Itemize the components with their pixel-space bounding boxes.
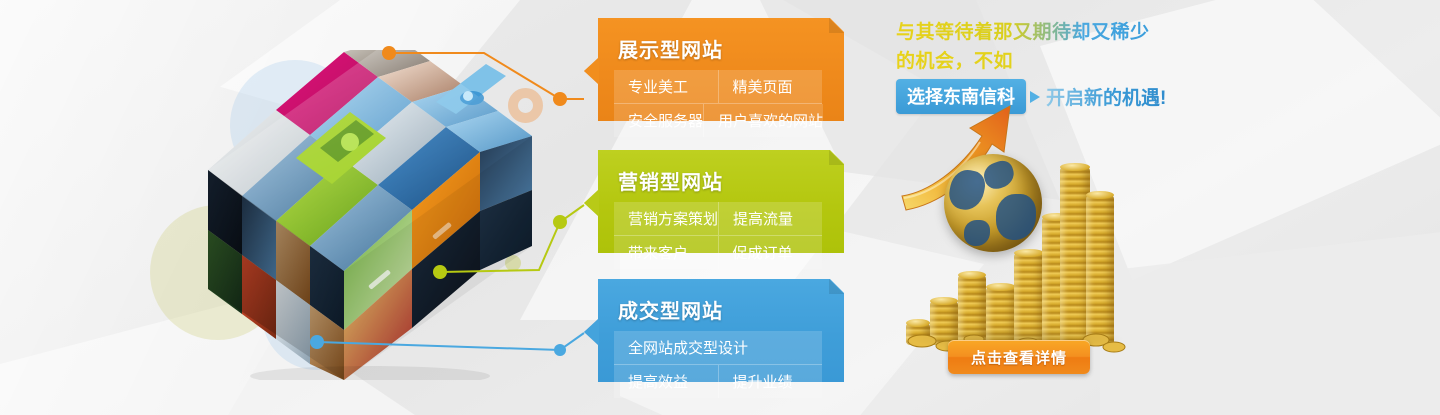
panel-feature-cell: 提升业绩 <box>719 365 823 398</box>
globe-and-gold-coins <box>900 100 1135 345</box>
connector-marketing <box>441 205 584 272</box>
connector-dot-showcase <box>553 92 567 106</box>
panel-marketing-rows: 营销方案策划 提高流量 带来客户 促成订单 <box>614 202 822 269</box>
connector-dot-conversion <box>554 344 566 356</box>
panel-feature-cell: 营销方案策划 <box>614 202 719 236</box>
connector-conversion <box>318 333 584 350</box>
panel-feature-cell: 提高效益 <box>614 365 719 398</box>
panel-feature-cell: 用户喜欢的网站 <box>704 104 823 137</box>
panel-feature-cell: 专业美工 <box>614 70 719 104</box>
globe-icon <box>944 154 1042 252</box>
panel-feature-cell: 提高流量 <box>719 202 822 236</box>
headline-line-1: 与其等待着那又期待却又稀少 <box>896 18 1196 47</box>
panel-row: 安全服务器 用户喜欢的网站 <box>614 104 822 137</box>
panel-feature-cell: 安全服务器 <box>614 104 704 137</box>
panel-conversion-rows: 全网站成交型设计 提高效益 提升业绩 <box>614 331 822 398</box>
connector-dot-conversion <box>310 335 324 349</box>
panel-conversion-title: 成交型网站 <box>618 295 723 324</box>
panel-row: 专业美工 精美页面 <box>614 70 822 104</box>
panel-showcase-pointer <box>584 58 599 84</box>
panel-row: 营销方案策划 提高流量 <box>614 202 822 236</box>
view-details-button[interactable]: 点击查看详情 <box>948 340 1090 374</box>
connector-dot-marketing <box>433 265 447 279</box>
panel-feature-cell: 精美页面 <box>719 70 823 104</box>
connector-showcase <box>390 53 584 99</box>
panel-row: 全网站成交型设计 <box>614 331 822 365</box>
panel-corner-fold <box>829 18 844 33</box>
headline-line-2: 的机会，不如 <box>896 47 1196 76</box>
panel-showcase-title: 展示型网站 <box>618 34 723 63</box>
globe-landmass <box>946 167 988 213</box>
panel-feature-cell: 全网站成交型设计 <box>614 331 822 365</box>
panel-corner-fold <box>829 279 844 294</box>
panel-marketing[interactable]: 营销型网站 营销方案策划 提高流量 带来客户 促成订单 <box>584 150 844 253</box>
panel-row: 提高效益 提升业绩 <box>614 365 822 398</box>
panel-marketing-title: 营销型网站 <box>618 166 723 195</box>
panel-corner-fold <box>829 150 844 165</box>
panel-showcase[interactable]: 展示型网站 专业美工 精美页面 安全服务器 用户喜欢的网站 <box>584 18 844 121</box>
connector-dot-marketing <box>553 215 567 229</box>
globe-landmass <box>964 220 990 246</box>
panel-showcase-rows: 专业美工 精美页面 安全服务器 用户喜欢的网站 <box>614 70 822 137</box>
panel-feature-cell: 促成订单 <box>719 236 823 269</box>
panel-conversion-pointer <box>584 319 599 345</box>
panel-feature-cell: 带来客户 <box>614 236 719 269</box>
globe-landmass <box>996 194 1036 240</box>
connector-dot-showcase <box>382 46 396 60</box>
panel-row: 带来客户 促成订单 <box>614 236 822 269</box>
panel-conversion[interactable]: 成交型网站 全网站成交型设计 提高效益 提升业绩 <box>584 279 844 382</box>
panel-marketing-pointer <box>584 190 599 216</box>
globe-landmass <box>981 158 1018 192</box>
hero-banner: 展示型网站 专业美工 精美页面 安全服务器 用户喜欢的网站 营销型网站 营销方案… <box>0 0 1440 415</box>
